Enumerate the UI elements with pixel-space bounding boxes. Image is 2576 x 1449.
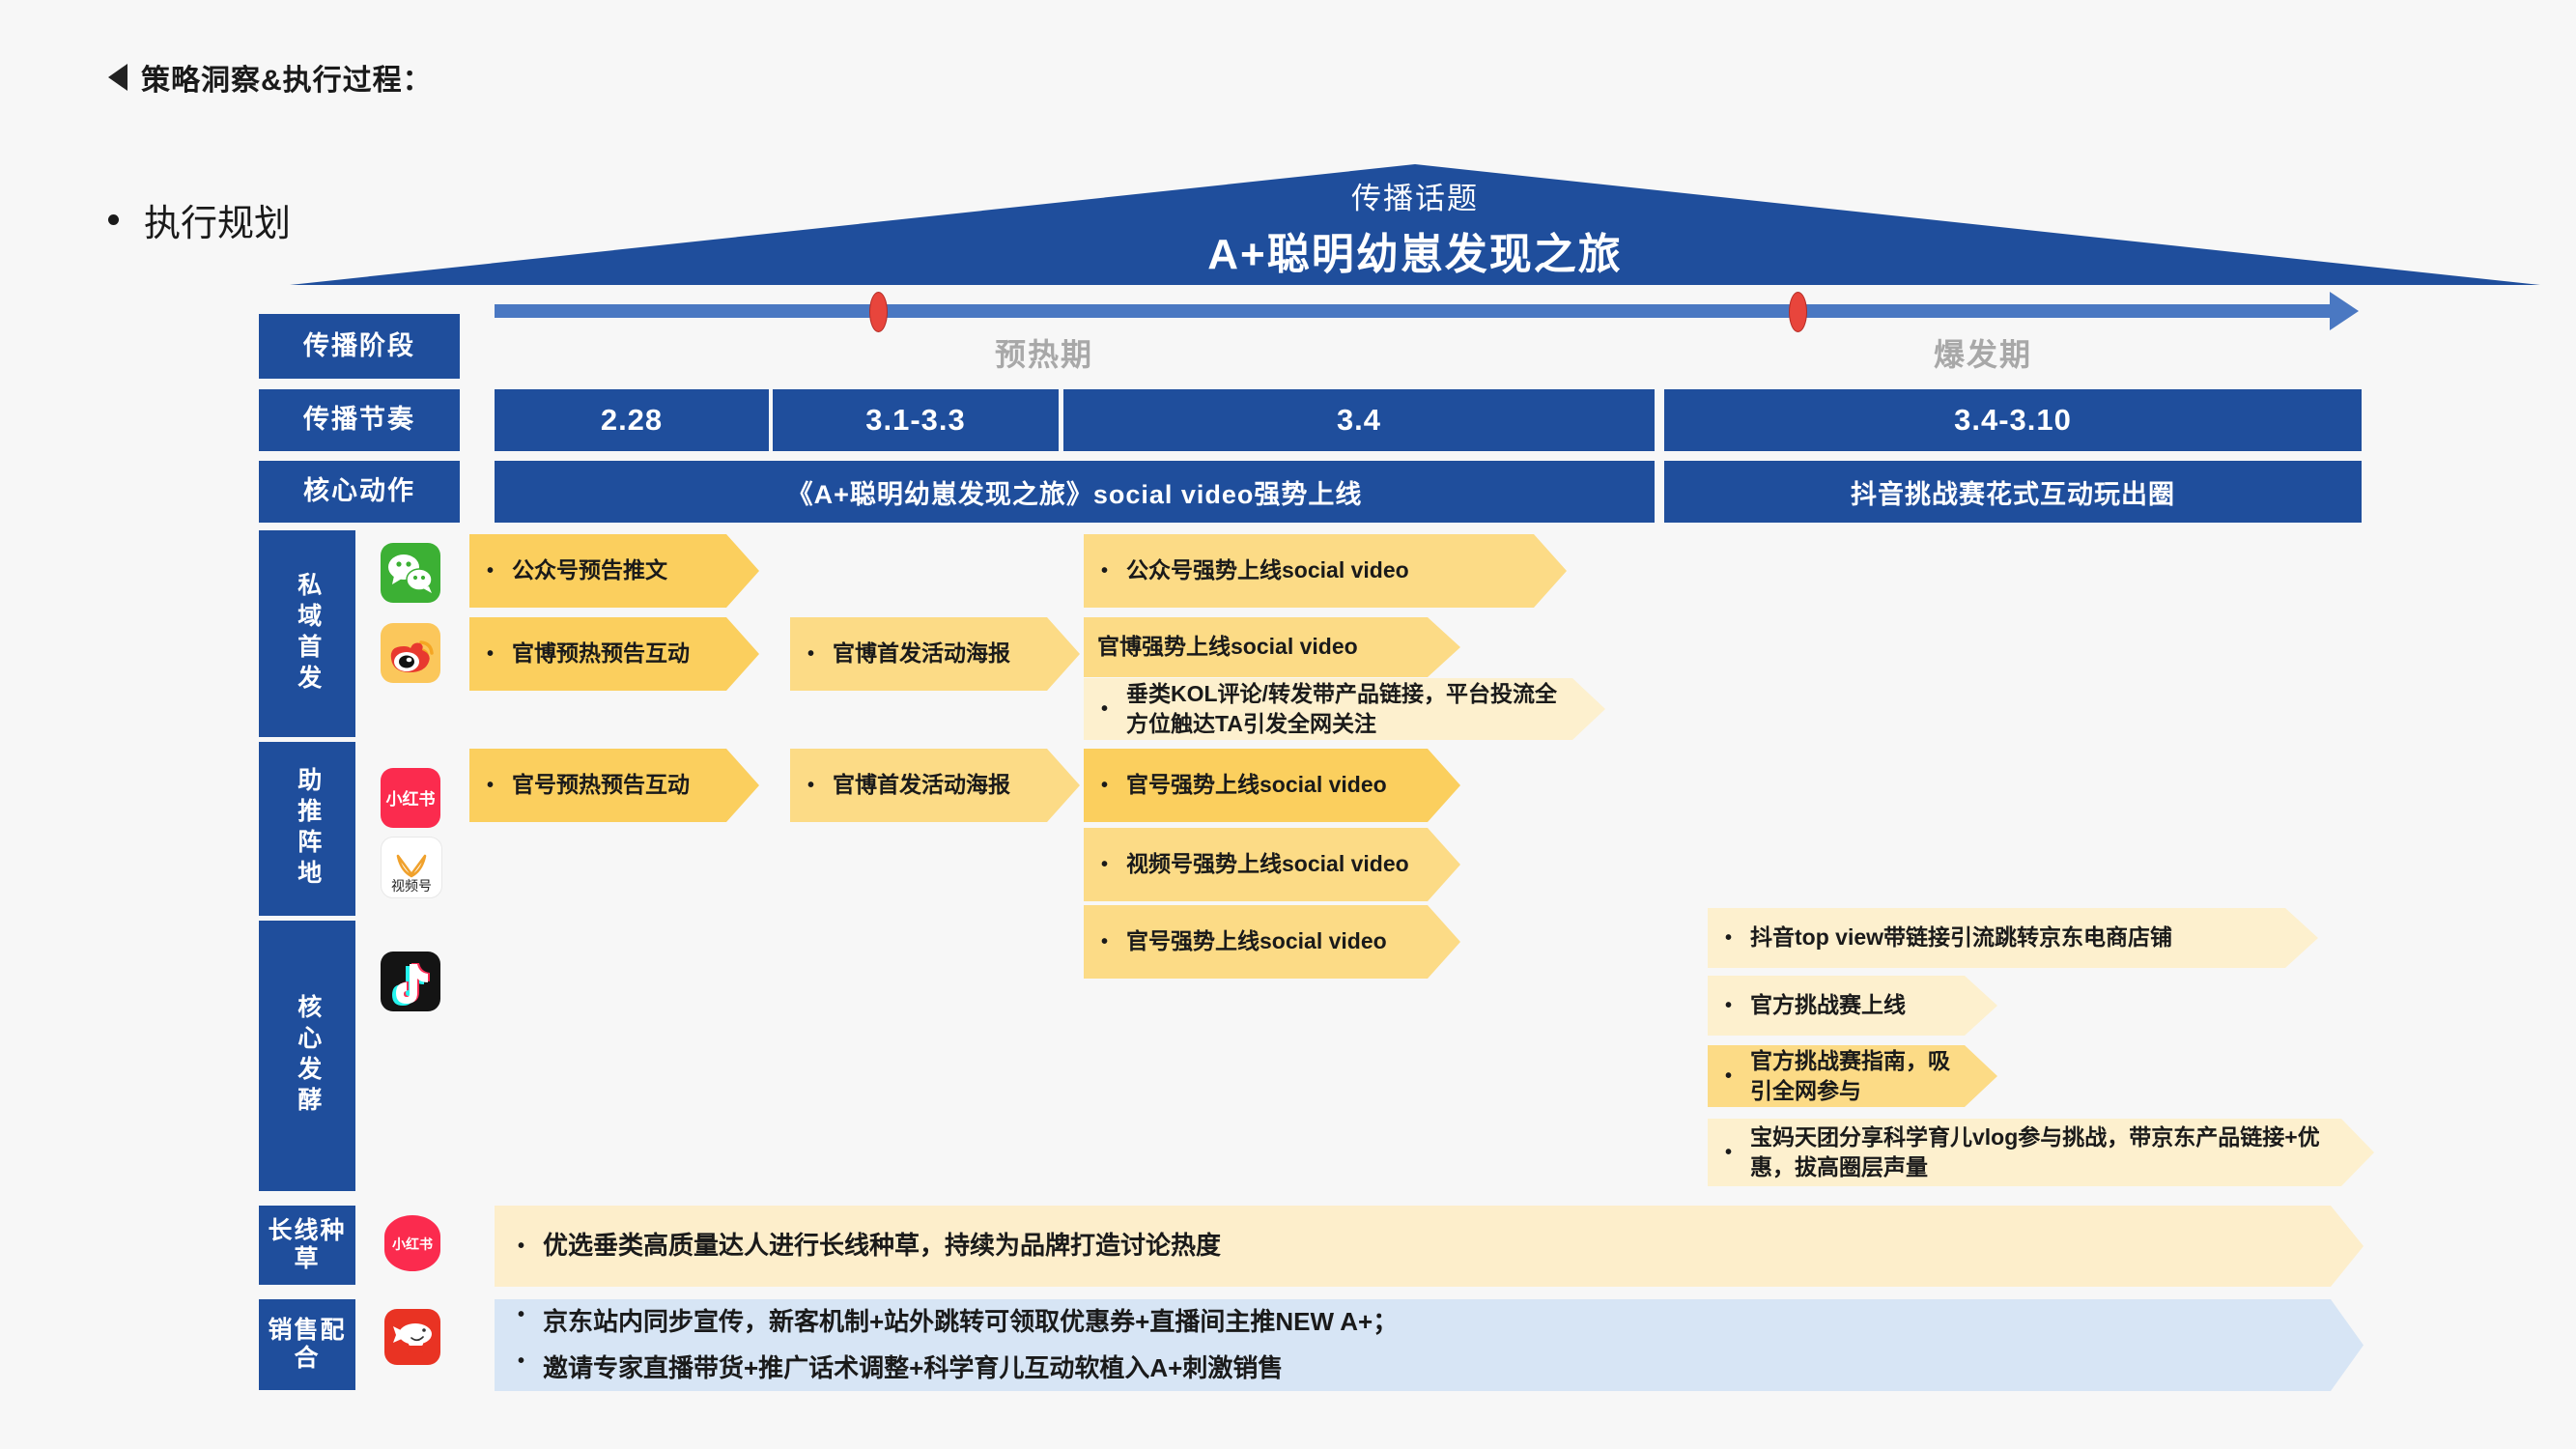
callout-bullet-icon: • [487, 561, 512, 581]
callout-text: 官博首发活动海报 [833, 639, 1080, 668]
callout-text: 官方挑战赛上线 [1750, 990, 1997, 1020]
left-triangle-icon [108, 64, 127, 91]
callout-text: 邀请专家直播带货+推广话术调整+科学育儿互动软植入A+刺激销售 [543, 1351, 2364, 1385]
callout-bullet-icon: • [518, 1305, 543, 1339]
phase-label-burst: 爆发期 [1934, 330, 2032, 375]
callout-text: 官博强势上线social video [1097, 632, 1460, 662]
row-label-private-domain: 私域首发 [259, 530, 355, 737]
row-label-core-action: 核心动作 [259, 461, 460, 523]
callout-bullet-icon: • [807, 644, 833, 664]
callout-bullet-icon: • [1101, 855, 1126, 874]
bullet-dot-icon [108, 214, 119, 225]
callout-bullet-icon: • [807, 776, 833, 795]
row-label-core-ferment-text: 核心发酵 [293, 994, 322, 1118]
banner-subtitle: 传播话题 [290, 174, 2540, 217]
core-action-preheat: 《A+聪明幼崽发现之旅》social video强势上线 [495, 461, 1655, 523]
row-label-private-domain-text: 私域首发 [293, 572, 322, 696]
banner-title: A+聪明幼崽发现之旅 [290, 219, 2540, 281]
svg-text:小红书: 小红书 [392, 1236, 433, 1252]
callout-mom-vlog[interactable]: • 宝妈天团分享科学育儿vlog参与挑战，带京东产品链接+优惠，拔高圈层声量 [1708, 1119, 2374, 1186]
callout-challenge-launch[interactable]: • 官方挑战赛上线 [1708, 976, 1997, 1036]
callout-topview[interactable]: • 抖音top view带链接引流跳转京东电商店铺 [1708, 908, 2318, 968]
svg-text:小红书: 小红书 [386, 789, 436, 809]
callout-wechat-teaser[interactable]: • 公众号预告推文 [469, 534, 759, 608]
callout-bullet-icon: • [487, 644, 512, 664]
page-title: 策略洞察&执行过程： [108, 56, 433, 99]
callout-bullet-icon: • [1101, 776, 1126, 795]
callout-xhs-teaser[interactable]: • 官号预热预告互动 [469, 749, 759, 822]
callout-weibo-poster[interactable]: • 官博首发活动海报 [790, 617, 1080, 691]
date-cell-34-310: 3.4-3.10 [1664, 389, 2362, 451]
date-cell-31-33: 3.1-3.3 [773, 389, 1059, 451]
banner-text-block: 传播话题 A+聪明幼崽发现之旅 [290, 174, 2540, 281]
callout-jd-promo[interactable]: • 京东站内同步宣传，新客机制+站外跳转可领取优惠券+直播间主推NEW A+； [518, 1305, 2364, 1339]
callout-bullet-icon: • [518, 1351, 543, 1385]
date-cell-228: 2.28 [495, 389, 769, 451]
date-cell-34: 3.4 [1063, 389, 1655, 451]
callout-kol-amplify[interactable]: • 垂类KOL评论/转发带产品链接，平台投流全方位触达TA引发全网关注 [1084, 678, 1605, 740]
callout-text: 官号强势上线social video [1126, 770, 1460, 800]
callout-bullet-icon: • [1725, 1143, 1750, 1162]
callout-text: 公众号强势上线social video [1126, 555, 1567, 585]
weibo-icon [381, 623, 440, 683]
page-title-text: 策略洞察&执行过程： [141, 56, 433, 99]
row-label-phase: 传播阶段 [259, 314, 460, 379]
section-bullet: 执行规划 [108, 193, 291, 246]
preheat-marker-icon [869, 292, 888, 332]
callout-text: 官博首发活动海报 [833, 770, 1080, 800]
callout-text: 官方挑战赛指南，吸引全网参与 [1750, 1046, 1997, 1106]
xiaohongshu-icon-longterm: 小红书 [384, 1215, 440, 1271]
callout-challenge-guide[interactable]: • 官方挑战赛指南，吸引全网参与 [1708, 1045, 1997, 1107]
callout-text: 官号强势上线social video [1126, 926, 1460, 956]
callout-long-term-seeding[interactable]: • 优选垂类高质量达人进行长线种草，持续为品牌打造讨论热度 [495, 1206, 2364, 1287]
douyin-icon [381, 952, 440, 1011]
row-label-rhythm: 传播节奏 [259, 389, 460, 451]
callout-bullet-icon: • [1101, 561, 1126, 581]
row-label-boost-position: 助推阵地 [259, 742, 355, 916]
callout-bullet-icon: • [1101, 932, 1126, 952]
callout-weibo-video-live[interactable]: 官博强势上线social video [1084, 617, 1460, 677]
callout-xhs-video-live[interactable]: • 官号强势上线social video [1084, 749, 1460, 822]
callout-text: 抖音top view带链接引流跳转京东电商店铺 [1750, 923, 2318, 952]
callout-text: 宝妈天团分享科学育儿vlog参与挑战，带京东产品链接+优惠，拔高圈层声量 [1750, 1122, 2374, 1182]
campaign-banner: 传播话题 A+聪明幼崽发现之旅 [290, 164, 2540, 285]
callout-xhs-poster[interactable]: • 官博首发活动海报 [790, 749, 1080, 822]
callout-text: 官号预热预告互动 [512, 770, 759, 800]
callout-bullet-icon: • [1101, 699, 1126, 719]
callout-wechat-video-live[interactable]: • 公众号强势上线social video [1084, 534, 1567, 608]
phase-label-preheat: 预热期 [995, 330, 1093, 375]
callout-bullet-icon: • [1725, 996, 1750, 1015]
row-label-sales-support: 销售配合 [259, 1299, 355, 1390]
section-bullet-label: 执行规划 [144, 193, 291, 246]
callout-expert-live[interactable]: • 邀请专家直播带货+推广话术调整+科学育儿互动软植入A+刺激销售 [518, 1351, 2364, 1385]
row-label-boost-position-text: 助推阵地 [293, 767, 322, 891]
callout-text: 京东站内同步宣传，新客机制+站外跳转可领取优惠券+直播间主推NEW A+； [543, 1305, 2364, 1339]
row-label-long-term: 长线种草 [259, 1206, 355, 1285]
burst-marker-icon [1789, 292, 1807, 332]
callout-text: 公众号预告推文 [512, 555, 759, 585]
svg-text:视频号: 视频号 [391, 878, 432, 894]
callout-text: 垂类KOL评论/转发带产品链接，平台投流全方位触达TA引发全网关注 [1126, 679, 1605, 739]
callout-channels-video-live[interactable]: • 视频号强势上线social video [1084, 828, 1460, 901]
callout-bullet-icon: • [1725, 1066, 1750, 1086]
callout-bullet-icon: • [1725, 928, 1750, 948]
xiaohongshu-icon: 小红书 [381, 768, 440, 828]
wechat-icon [381, 543, 440, 603]
row-label-core-ferment: 核心发酵 [259, 921, 355, 1191]
core-action-burst: 抖音挑战赛花式互动玩出圈 [1664, 461, 2362, 523]
callout-bullet-icon: • [518, 1236, 543, 1256]
callout-douyin-video-live[interactable]: • 官号强势上线social video [1084, 905, 1460, 979]
callout-text: 优选垂类高质量达人进行长线种草，持续为品牌打造讨论热度 [543, 1229, 2364, 1263]
callout-sales-support-block[interactable]: • 京东站内同步宣传，新客机制+站外跳转可领取优惠券+直播间主推NEW A+； … [495, 1299, 2364, 1391]
wechat-channels-icon: 视频号 [381, 837, 442, 898]
callout-text: 视频号强势上线social video [1126, 849, 1460, 879]
jingdong-icon [384, 1309, 440, 1365]
callout-weibo-teaser[interactable]: • 官博预热预告互动 [469, 617, 759, 691]
timeline-arrowhead-icon [2330, 292, 2359, 330]
timeline-arrow [495, 297, 2359, 326]
callout-text: 官博预热预告互动 [512, 639, 759, 668]
callout-bullet-icon: • [487, 776, 512, 795]
timeline-line [495, 304, 2332, 318]
